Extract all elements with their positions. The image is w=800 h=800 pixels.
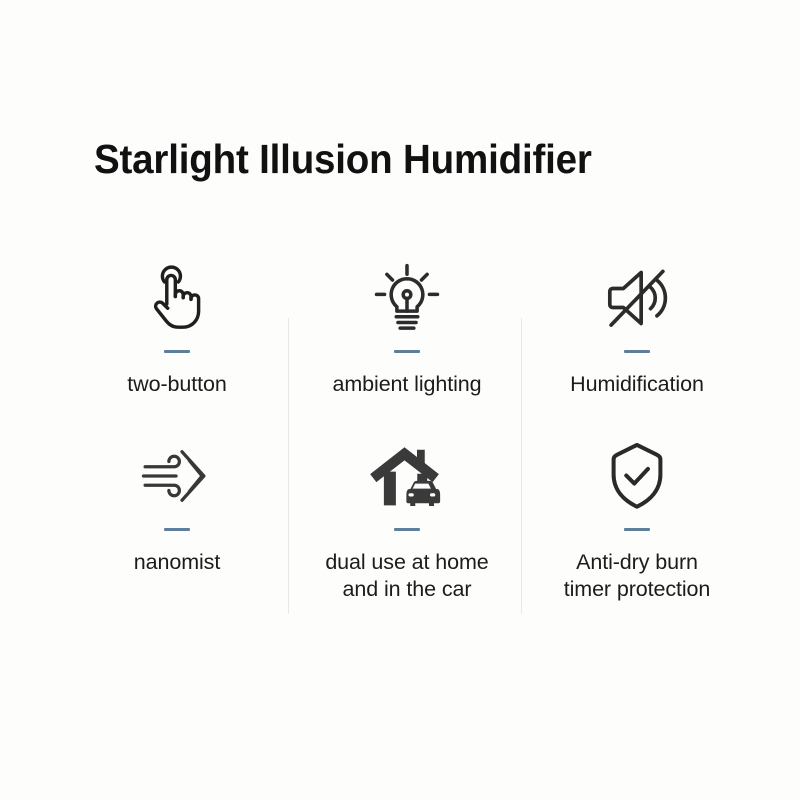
feature-item-dual-use: dual use at home and in the car	[292, 430, 522, 625]
feature-label: Anti-dry burn timer protection	[564, 549, 711, 603]
accent-dash	[164, 350, 190, 353]
light-bulb-icon	[368, 252, 446, 344]
house-car-icon	[367, 430, 447, 522]
feature-item-anti-dry-burn: Anti-dry burn timer protection	[522, 430, 752, 625]
feature-label: two-button	[127, 371, 226, 398]
feature-item-two-button: two-button	[62, 252, 292, 430]
feature-label: nanomist	[134, 549, 220, 576]
accent-dash	[624, 350, 650, 353]
accent-dash	[394, 528, 420, 531]
product-feature-panel: Starlight Illusion Humidifier two-button	[0, 0, 800, 800]
accent-dash	[164, 528, 190, 531]
feature-item-humidification: Humidification	[522, 252, 752, 430]
feature-item-ambient-lighting: ambient lighting	[292, 252, 522, 430]
wind-airflow-icon	[137, 430, 217, 522]
accent-dash	[394, 350, 420, 353]
accent-dash	[624, 528, 650, 531]
tap-hand-icon	[139, 252, 215, 344]
feature-label: dual use at home and in the car	[325, 549, 488, 603]
feature-label: Humidification	[570, 371, 704, 398]
mute-speaker-icon	[599, 252, 675, 344]
feature-label: ambient lighting	[333, 371, 482, 398]
shield-check-icon	[598, 430, 676, 522]
feature-grid: two-button ambient	[62, 252, 752, 625]
page-title: Starlight Illusion Humidifier	[94, 132, 696, 186]
feature-item-nanomist: nanomist	[62, 430, 292, 625]
